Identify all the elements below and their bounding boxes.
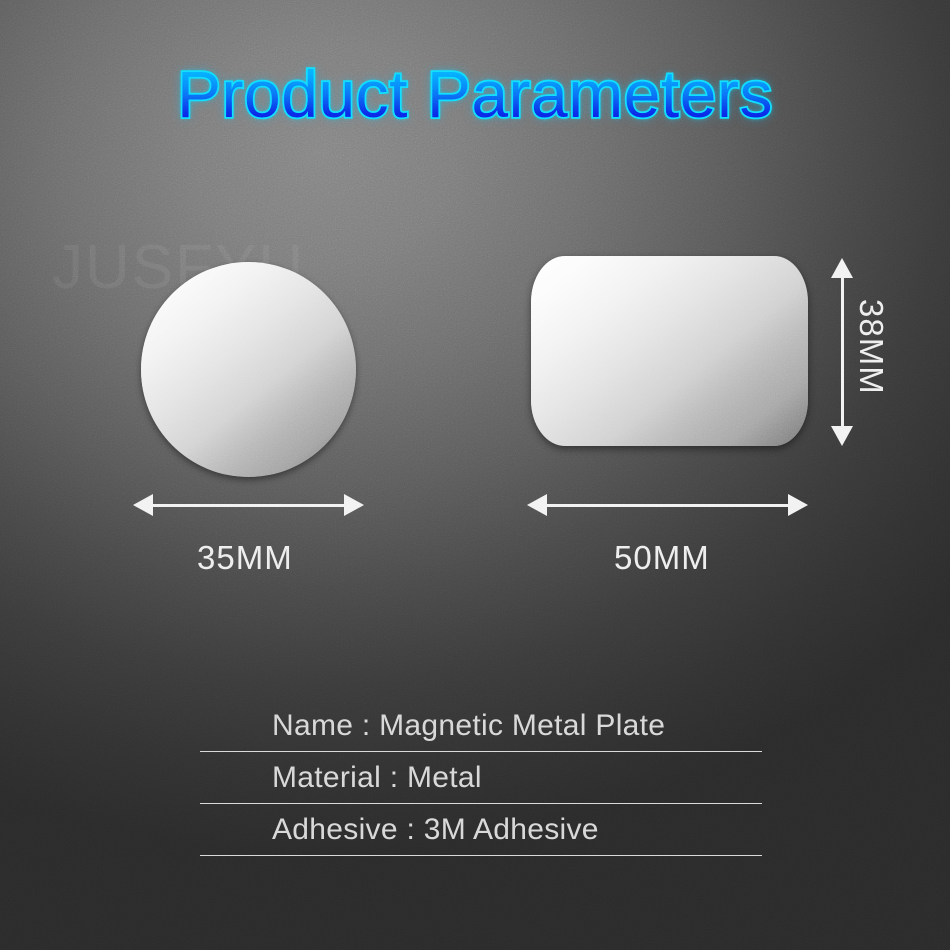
arrow-shaft <box>153 504 344 507</box>
arrow-head-right-icon <box>344 494 364 516</box>
page-title: Product Parameters Product Parameters <box>0 60 950 129</box>
title-text: Product Parameters Product Parameters <box>177 60 773 129</box>
disc-width-label: 35MM <box>197 539 293 577</box>
spec-material-row: Material : Metal <box>200 761 482 795</box>
table-row: Name : Magnetic Metal Plate <box>200 700 762 752</box>
spec-adhesive-row: Adhesive : 3M Adhesive <box>200 813 599 847</box>
round-magnetic-plate <box>141 262 356 477</box>
spec-name-row: Name : Magnetic Metal Plate <box>200 709 665 743</box>
arrow-head-left-icon <box>527 494 547 516</box>
table-row: Adhesive : 3M Adhesive <box>200 804 762 856</box>
plate-height-arrow <box>831 258 853 446</box>
arrow-shaft <box>841 278 844 426</box>
plate-height-label: 38MM <box>852 299 890 395</box>
table-row: Material : Metal <box>200 752 762 804</box>
specification-table: Name : Magnetic Metal Plate Material : M… <box>200 700 762 856</box>
plate-rim-shading <box>531 256 808 446</box>
plate-width-arrow <box>527 494 808 516</box>
arrow-shaft <box>547 504 788 507</box>
arrow-head-up-icon <box>831 258 853 278</box>
plate-width-label: 50MM <box>614 539 710 577</box>
arrow-head-left-icon <box>133 494 153 516</box>
product-parameters-infographic: JUSFYU Product Parameters Product Parame… <box>0 0 950 950</box>
rectangular-magnetic-plate <box>531 256 808 446</box>
arrow-head-down-icon <box>831 426 853 446</box>
title-fill-layer: Product Parameters <box>177 57 773 131</box>
disc-rim-shading <box>141 262 356 477</box>
arrow-head-right-icon <box>788 494 808 516</box>
disc-width-arrow <box>133 494 364 516</box>
